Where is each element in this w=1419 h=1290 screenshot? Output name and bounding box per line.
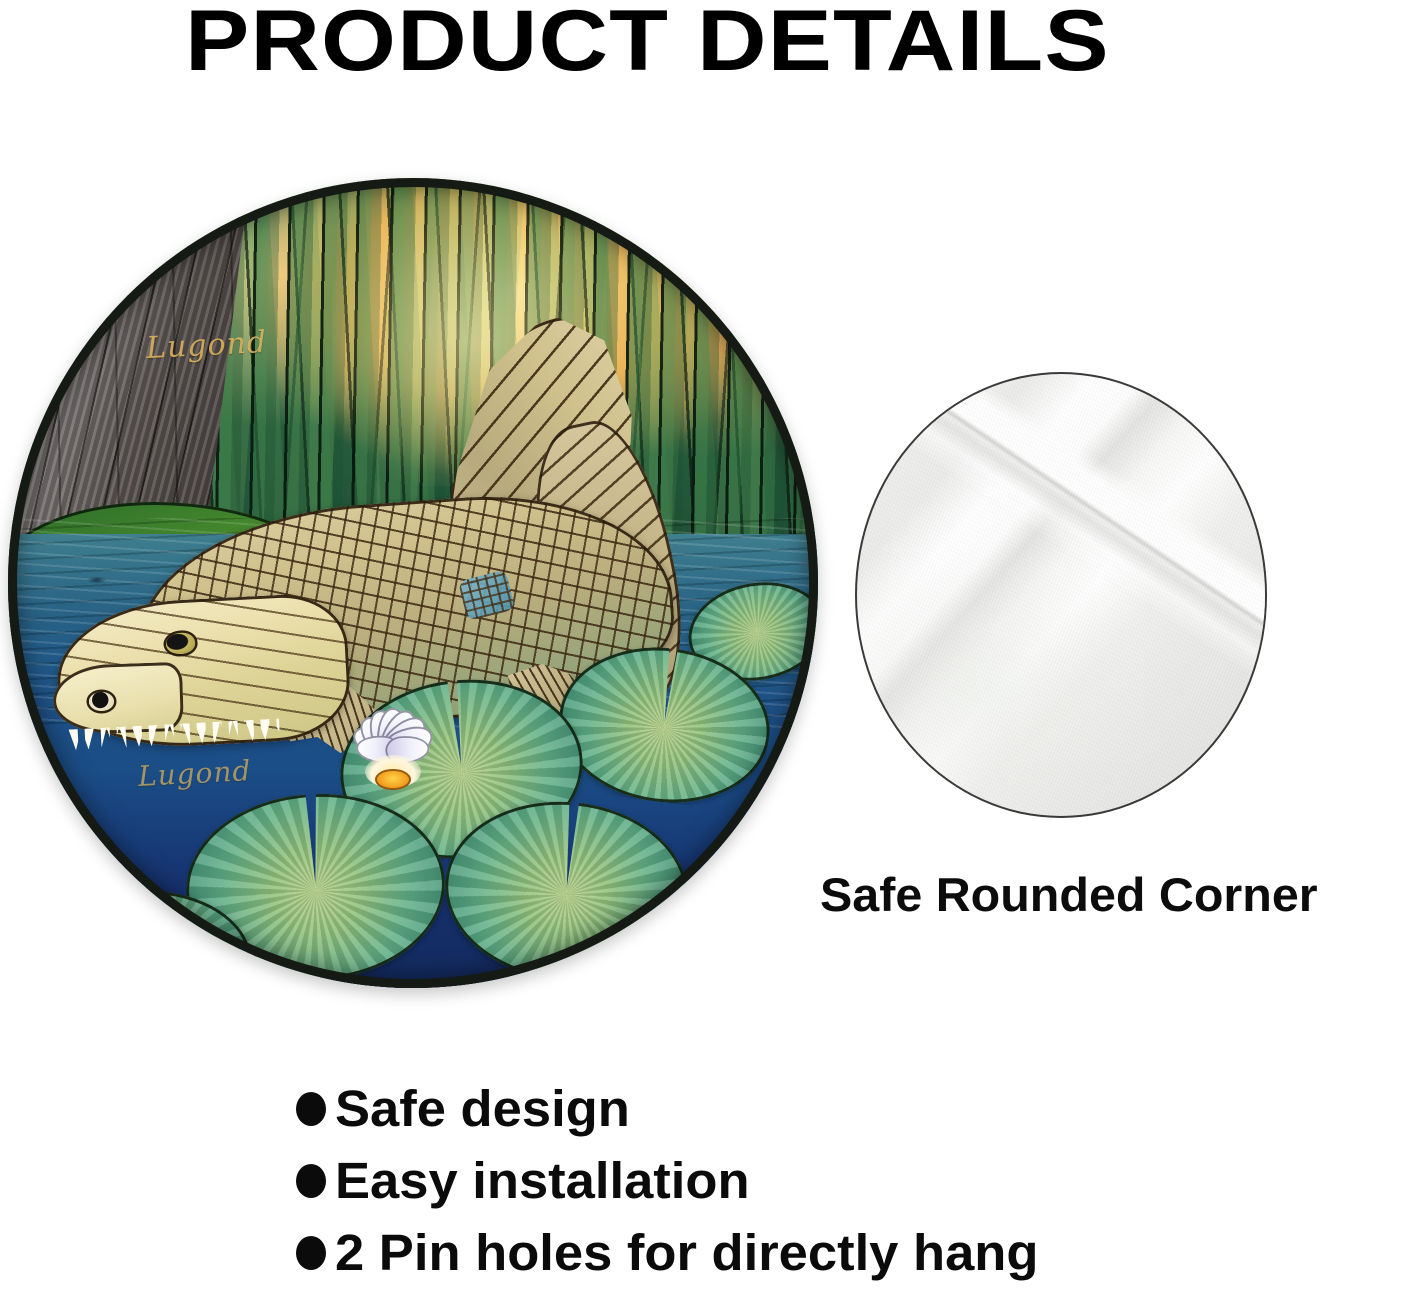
list-item: Easy installation xyxy=(296,1145,1018,1217)
list-item: Safe design xyxy=(296,1073,1018,1145)
alligator-nostril-eye xyxy=(89,692,114,711)
bullet-circle-icon xyxy=(296,1164,326,1198)
feature-label: Easy installation xyxy=(335,1145,750,1217)
bullet-circle-icon xyxy=(296,1092,326,1126)
surface-texture xyxy=(857,374,1265,816)
list-item: 2 Pin holes for directly hang xyxy=(296,1217,1018,1289)
stained-glass-artwork: Lugond Lugond xyxy=(8,178,818,988)
bullet-circle-icon xyxy=(296,1236,326,1270)
rounded-corner-closeup xyxy=(855,372,1267,818)
rounded-corner-caption: Safe Rounded Corner xyxy=(820,867,1419,922)
feature-label: Safe design xyxy=(335,1073,630,1145)
lily-center xyxy=(375,769,411,790)
feature-list: Safe design Easy installation 2 Pin hole… xyxy=(296,1073,1018,1289)
feature-label: 2 Pin holes for directly hang xyxy=(335,1217,1038,1289)
page-title: PRODUCT DETAILS xyxy=(185,0,1110,86)
water-lily-flower xyxy=(332,713,454,810)
